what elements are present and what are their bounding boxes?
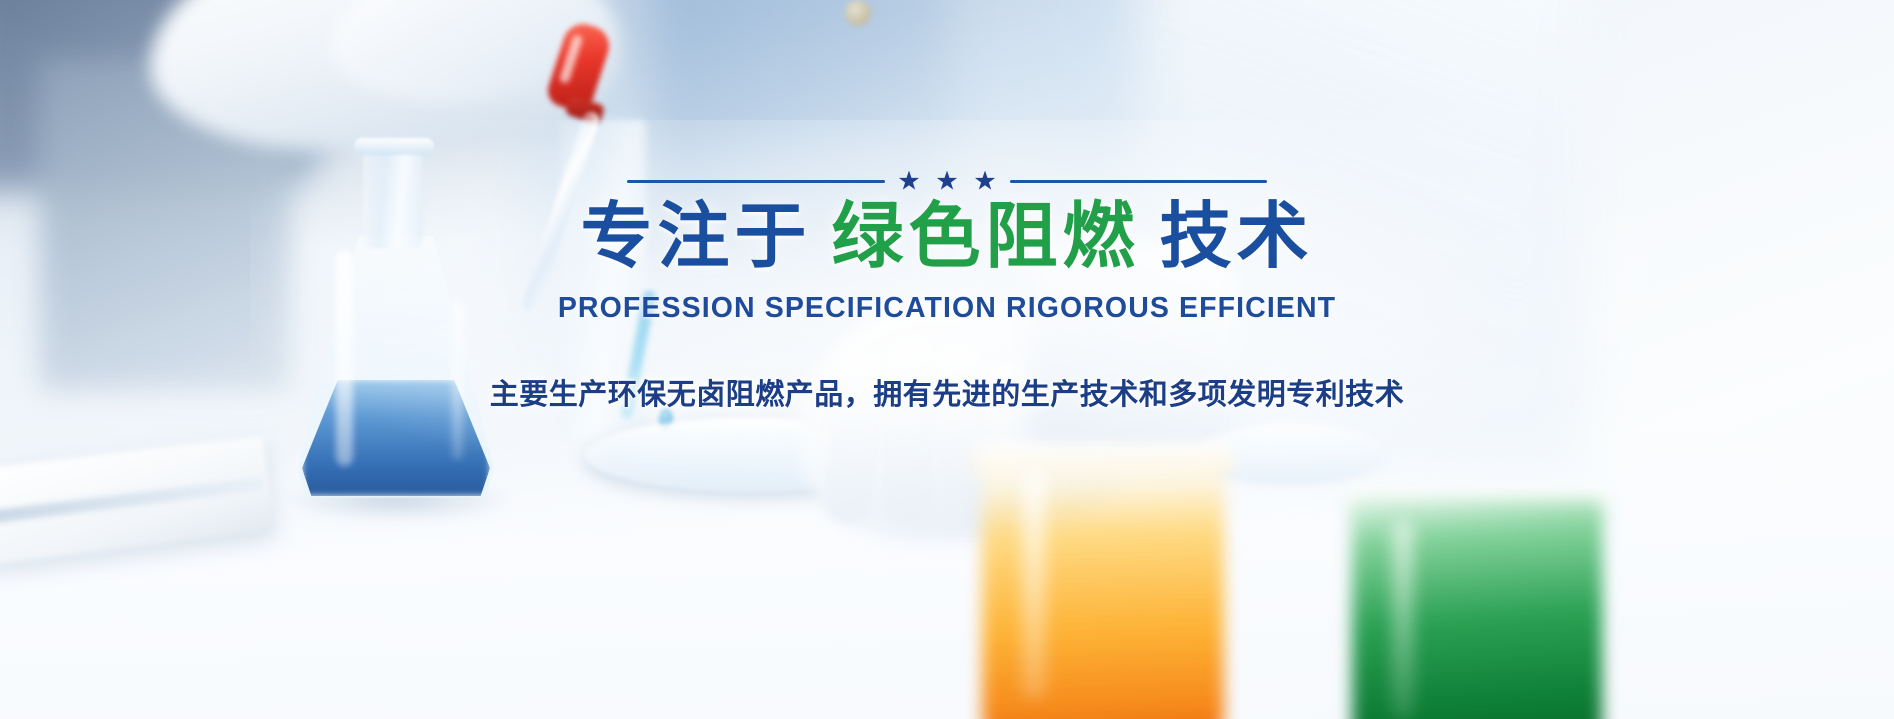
star-icon — [975, 171, 996, 192]
headline-part-1: 专注于 — [580, 197, 811, 277]
headline-part-2: 绿色阻燃 — [831, 197, 1139, 277]
star-group — [899, 171, 996, 192]
divider-rule-left — [627, 180, 885, 183]
star-icon — [899, 171, 920, 192]
chinese-tagline: 主要生产环保无卤阻燃产品，拥有先进的生产技术和多项发明专利技术 — [490, 371, 1405, 413]
star-icon — [937, 171, 958, 192]
banner-content: 专注于绿色阻燃技术 PROFESSION SPECIFICATION RIGOR… — [0, 0, 1894, 719]
promotional-banner: 专注于绿色阻燃技术 PROFESSION SPECIFICATION RIGOR… — [0, 0, 1894, 719]
headline: 专注于绿色阻燃技术 — [580, 200, 1313, 276]
star-divider — [627, 168, 1267, 194]
headline-part-3: 技术 — [1160, 197, 1314, 277]
english-subtitle: PROFESSION SPECIFICATION RIGOROUS EFFICI… — [558, 292, 1336, 325]
divider-rule-right — [1010, 180, 1268, 183]
